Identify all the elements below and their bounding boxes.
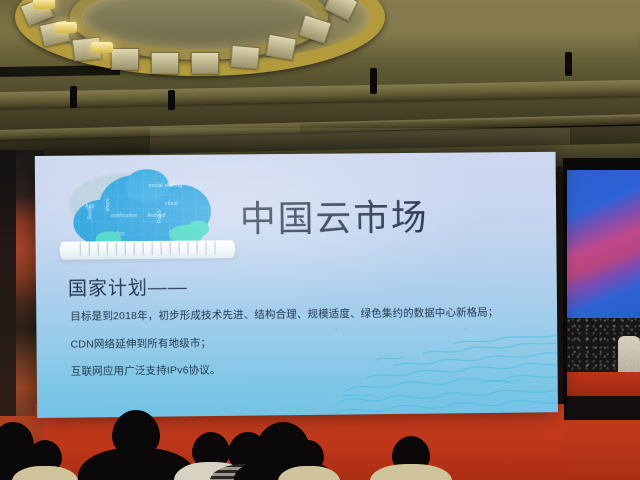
led-screen-right <box>563 158 640 420</box>
chandelier-lamp <box>55 22 77 33</box>
wall-left-shadow <box>0 150 16 420</box>
cloud-platform-ribs <box>80 241 220 255</box>
audience-silhouettes <box>0 396 640 480</box>
slide-title: 中国云市场 <box>240 189 429 242</box>
cloud-wordcloud-illustration: App share social sharing notification An… <box>65 168 226 269</box>
slide-speck <box>464 328 466 331</box>
chandelier-segment <box>111 48 139 70</box>
chandelier-segment <box>151 52 179 74</box>
presentation-slide: App share social sharing notification An… <box>35 152 558 418</box>
chandelier-lamp <box>33 0 55 9</box>
slide-speck <box>458 317 460 319</box>
ceiling <box>0 0 640 172</box>
audience-shoulders <box>370 464 452 480</box>
led-screen-right-red-band <box>567 372 640 396</box>
projection-screen[interactable]: App share social sharing notification An… <box>35 152 558 418</box>
chandelier <box>15 0 385 98</box>
ceiling-pendant <box>565 52 572 76</box>
chandelier-segment <box>191 52 219 74</box>
chandelier-segment <box>230 45 260 69</box>
slide-subtitle: 国家计划—— <box>68 273 188 301</box>
conference-hall-scene: App share social sharing notification An… <box>0 0 640 480</box>
chandelier-lamp <box>91 42 113 53</box>
led-screen-right-image <box>567 170 640 318</box>
slide-speck <box>335 328 337 330</box>
slide-body-line: 目标是到2018年，初步形成技术先进、结构合理、规模适度、绿色集约的数据中心新格… <box>70 307 537 322</box>
chandelier-segment <box>265 34 296 61</box>
